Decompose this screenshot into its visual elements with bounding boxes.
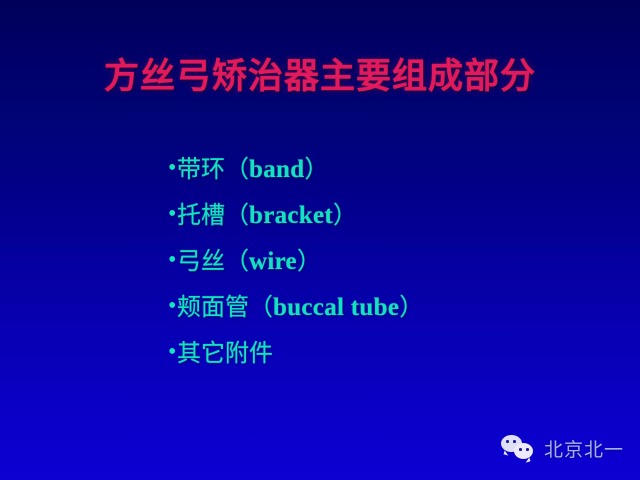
wechat-eye	[513, 440, 516, 443]
wechat-eye	[506, 440, 509, 443]
watermark-label: 北京北一	[544, 435, 624, 462]
watermark: 北京北一	[501, 434, 624, 462]
wechat-eye	[519, 448, 522, 451]
list-item: 托槽（bracket）	[168, 202, 608, 248]
bullet-point-icon	[168, 202, 177, 226]
list-item-label: 带环（band）	[177, 156, 328, 184]
list-item: 弓丝（wire）	[168, 248, 608, 294]
bullet-point-icon	[168, 340, 177, 364]
list-item-label: 其它附件	[177, 340, 273, 368]
wechat-icon	[501, 434, 535, 462]
wechat-bubble-small	[514, 443, 533, 459]
list-item: 其它附件	[168, 340, 608, 386]
bullet-point-icon	[168, 248, 177, 272]
list-item-label: 弓丝（wire）	[177, 248, 321, 276]
presentation-slide: 方丝弓矫治器主要组成部分 带环（band） 托槽（bracket） 弓丝（wir…	[0, 0, 640, 480]
list-item: 带环（band）	[168, 156, 608, 202]
bullet-list: 带环（band） 托槽（bracket） 弓丝（wire） 颊面管（buccal…	[168, 156, 608, 386]
list-item-label: 托槽（bracket）	[177, 202, 357, 230]
list-item: 颊面管（buccal tube）	[168, 294, 608, 340]
list-item-label: 颊面管（buccal tube）	[177, 294, 423, 322]
page-title: 方丝弓矫治器主要组成部分	[104, 56, 536, 100]
slide-title-block: 方丝弓矫治器主要组成部分	[0, 56, 640, 100]
bullet-point-icon	[168, 294, 177, 318]
bullet-point-icon	[168, 156, 177, 180]
wechat-eye	[526, 448, 529, 451]
